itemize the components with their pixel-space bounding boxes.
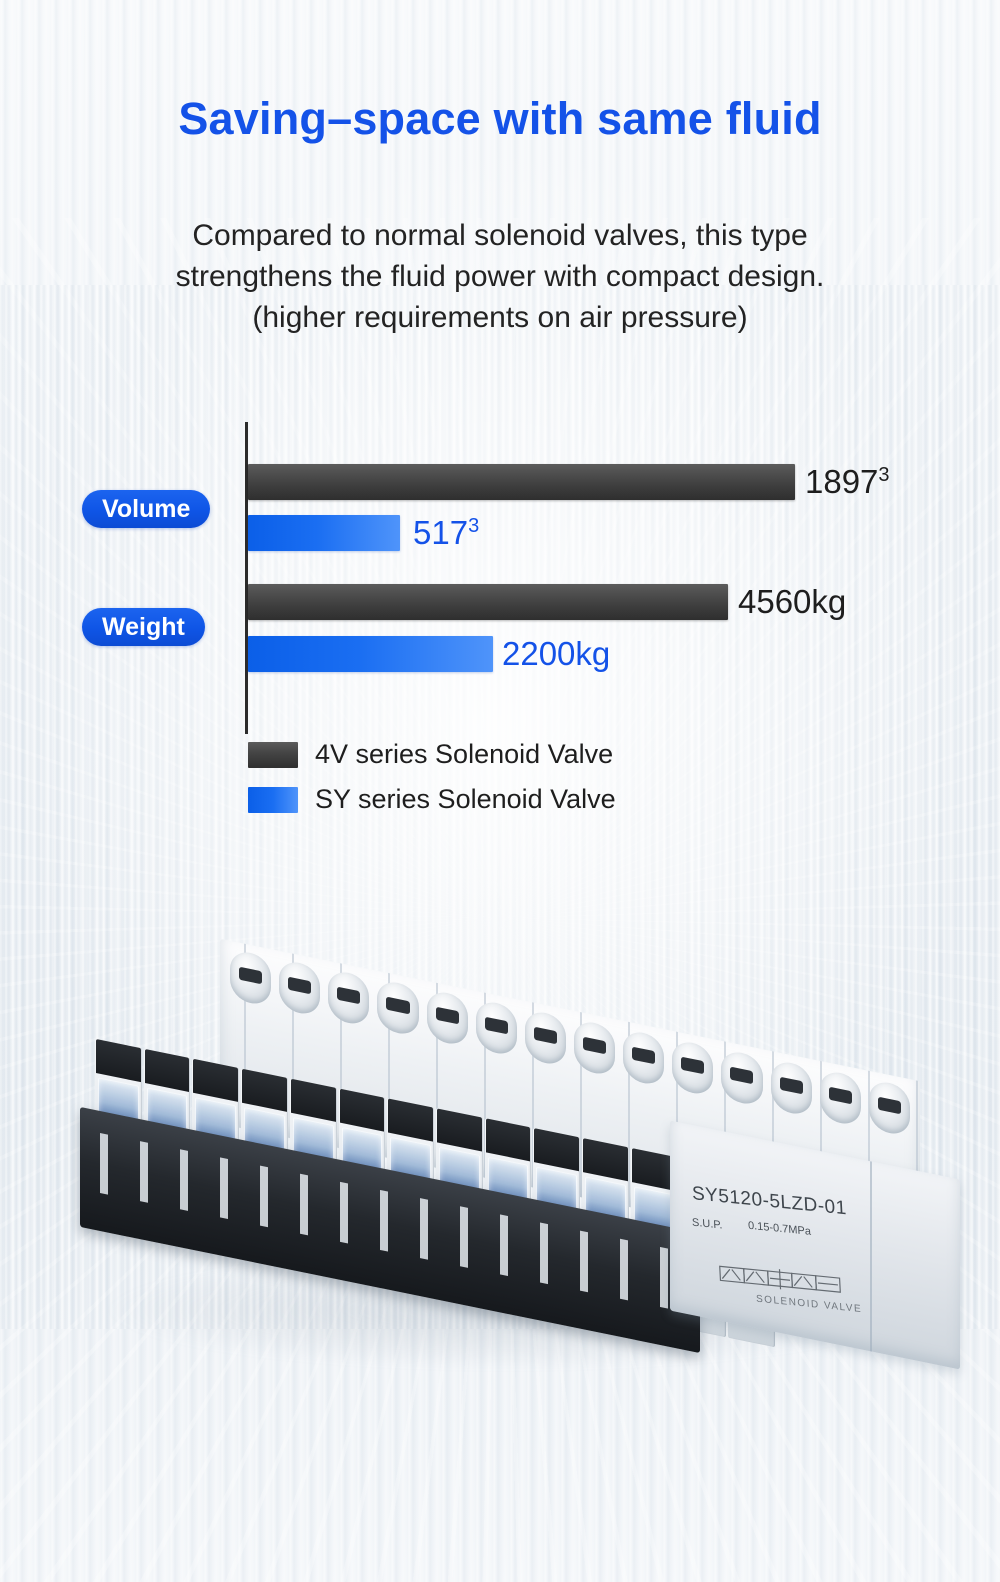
legend-swatch-sy-icon [248,787,298,813]
bar-weight-sy[interactable] [248,636,493,672]
product-model-label: SY5120-5LZD-01 [692,1183,848,1220]
page-subtitle: Compared to normal solenoid valves, this… [0,215,1000,338]
legend-item-sy[interactable]: SY series Solenoid Valve [248,782,616,817]
category-label-weight: Weight [82,608,205,646]
bar-value-weight-4v: 4560kg [738,584,846,620]
page-title: Saving–space with same fluid [0,93,1000,145]
product-port-label: S.U.P. [692,1217,723,1232]
bar-value-volume-sy: 5173 [413,515,479,551]
valve-top-cap [145,1049,190,1092]
legend-label-sy: SY series Solenoid Valve [315,784,616,815]
legend-label-4v: 4V series Solenoid Valve [315,739,613,770]
subtitle-line-3: (higher requirements on air pressure) [0,297,1000,338]
comparison-bar-chart: Volume 18973 5173 Weight 4560kg 2200kg 4… [0,412,1000,832]
legend-swatch-4v-icon [248,742,298,768]
bar-value-volume-4v: 18973 [805,464,890,500]
bar-volume-sy[interactable] [248,515,400,551]
product-photo: SY5120-5LZD-01 0.15-0.7MPa S.U.P. SOLENO… [60,1000,960,1420]
bar-weight-4v[interactable] [248,584,728,620]
bar-volume-4v[interactable] [248,464,795,500]
legend-item-4v[interactable]: 4V series Solenoid Valve [248,737,616,772]
bar-value-volume-sy-sup: 3 [468,515,479,537]
bar-value-volume-4v-number: 1897 [805,463,878,500]
bar-value-weight-sy-number: 2200kg [502,635,610,672]
category-label-weight-text: Weight [102,613,185,641]
valve-top-cap [96,1039,141,1082]
promo-page: Saving–space with same fluid Compared to… [0,0,1000,1582]
subtitle-line-1: Compared to normal solenoid valves, this… [0,215,1000,256]
category-label-volume: Volume [82,490,210,528]
bar-value-weight-4v-number: 4560kg [738,583,846,620]
bar-value-volume-4v-sup: 3 [878,464,889,486]
subtitle-line-2: strengthens the fluid power with compact… [0,256,1000,297]
product-pressure-label: 0.15-0.7MPa [748,1220,812,1238]
bar-value-volume-sy-number: 517 [413,514,468,551]
category-label-volume-text: Volume [102,495,190,523]
bar-value-weight-sy: 2200kg [502,636,610,672]
end-block-seam [870,1161,872,1351]
chart-legend: 4V series Solenoid Valve SY series Solen… [248,737,616,827]
